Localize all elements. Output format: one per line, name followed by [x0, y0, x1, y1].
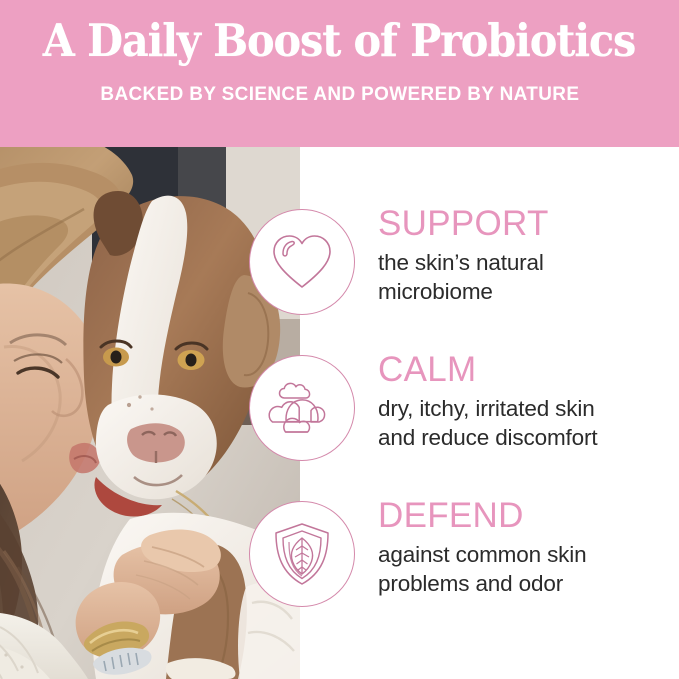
clouds-icon [268, 380, 336, 436]
feature-body-line: against common skin [378, 540, 678, 569]
feature-body-line: microbiome [378, 277, 678, 306]
feature-body: against common skin problems and odor [378, 540, 678, 599]
feature-body-line: the skin’s natural [378, 248, 678, 277]
feature-heading: SUPPORT [378, 205, 678, 242]
feature-body-line: and reduce discomfort [378, 423, 678, 452]
heart-icon-badge [249, 209, 355, 315]
feature-body: dry, itchy, irritated skin and reduce di… [378, 394, 678, 453]
feature-body: the skin’s natural microbiome [378, 248, 678, 307]
feature-text: SUPPORT the skin’s natural microbiome [378, 205, 678, 307]
shield-leaf-icon [272, 521, 332, 587]
shield-leaf-icon-badge [249, 501, 355, 607]
feature-heading: DEFEND [378, 497, 678, 534]
page-subtitle: BACKED BY SCIENCE AND POWERED BY NATURE [100, 83, 579, 106]
feature-heading: CALM [378, 351, 678, 388]
header-banner: A Daily Boost of Probiotics BACKED BY SC… [0, 0, 679, 147]
heart-icon [270, 232, 334, 292]
feature-text: CALM dry, itchy, irritated skin and redu… [378, 351, 678, 453]
feature-body-line: problems and odor [378, 569, 678, 598]
clouds-icon-badge [249, 355, 355, 461]
feature-body-line: dry, itchy, irritated skin [378, 394, 678, 423]
page-title: A Daily Boost of Probiotics [43, 18, 635, 63]
feature-text: DEFEND against common skin problems and … [378, 497, 678, 599]
feature-list: SUPPORT the skin’s natural microbiome [240, 147, 679, 679]
